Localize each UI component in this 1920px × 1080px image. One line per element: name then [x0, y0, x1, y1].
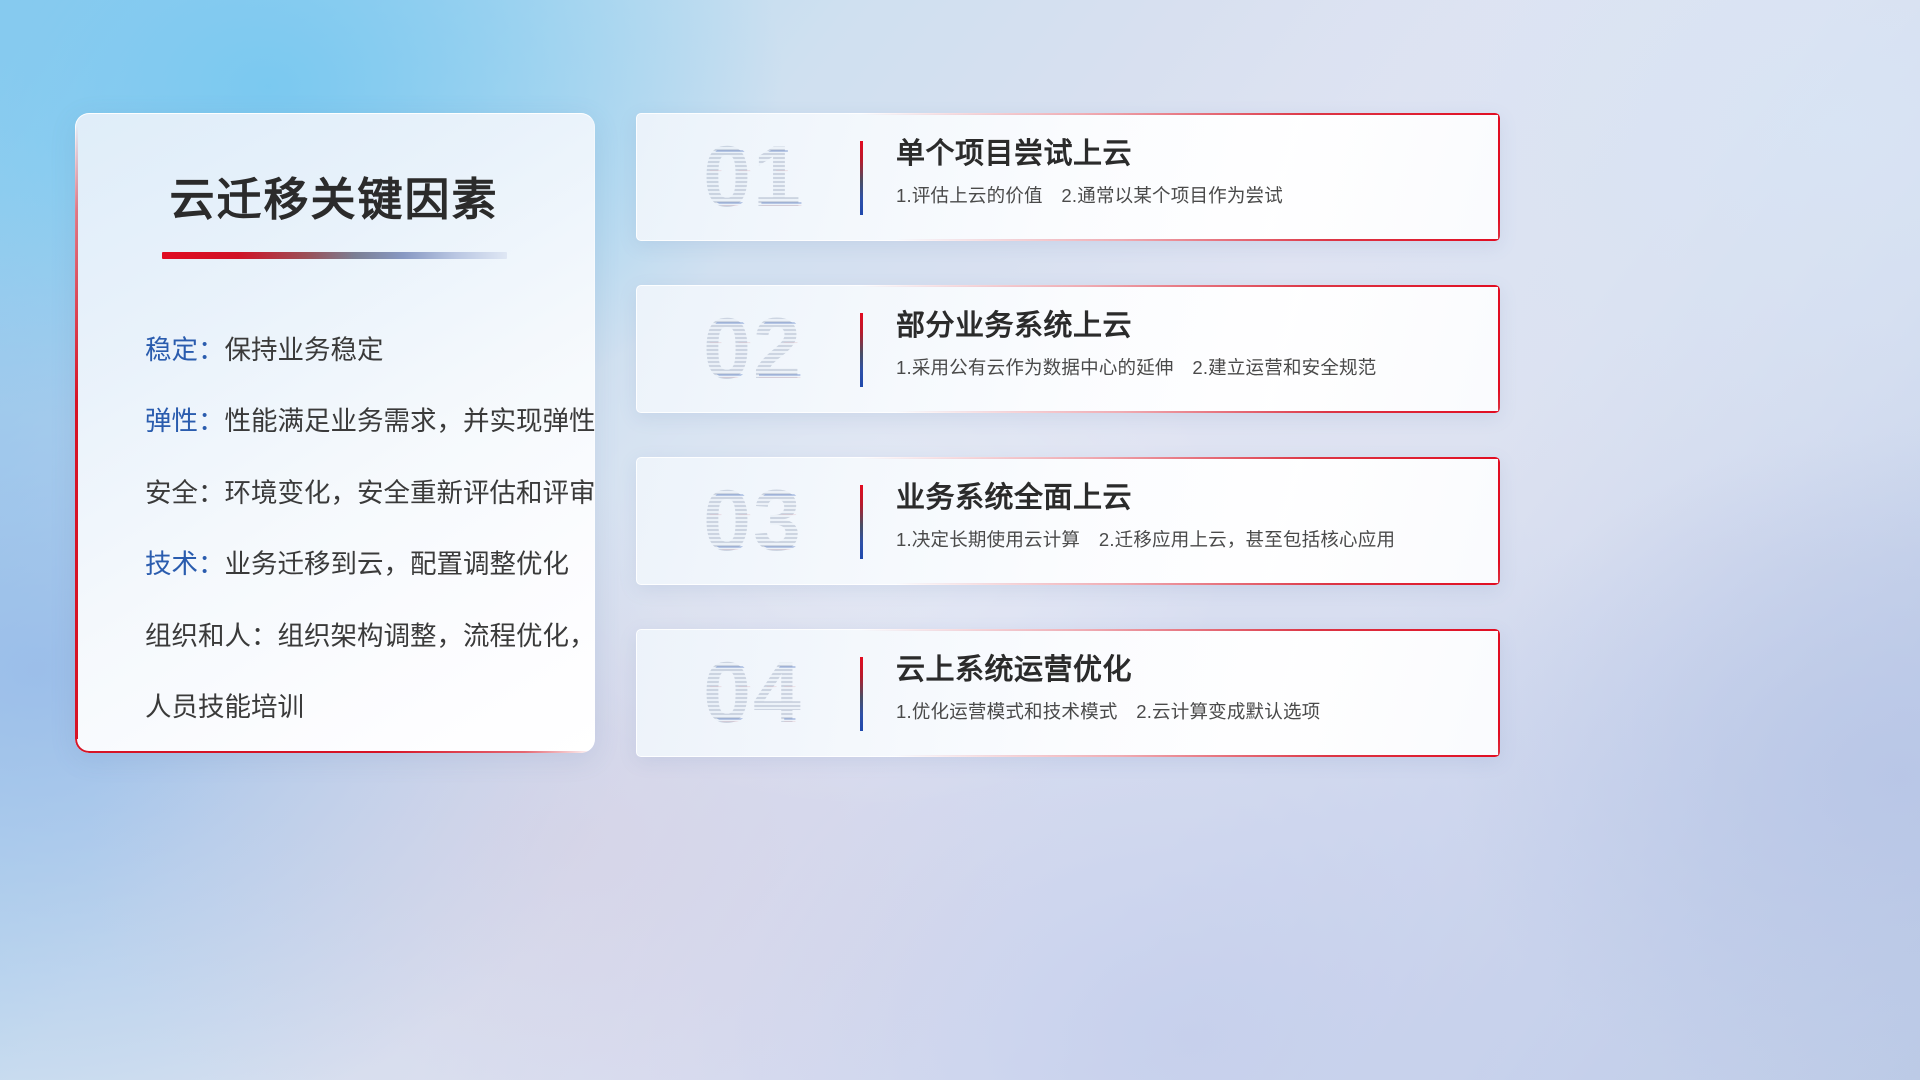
factor-key: 技术：	[145, 549, 225, 579]
step-number-accent: 02	[661, 297, 851, 401]
list-item: 安全：环境变化，安全重新评估和评审	[145, 480, 555, 507]
step-card-02[interactable]: 02 02 部分业务系统上云 1.采用公有云作为数据中心的延伸 2.建立运营和安…	[636, 285, 1500, 413]
factor-value: 业务迁移到云，配置调整优化	[225, 549, 570, 579]
step-subtitle: 1.评估上云的价值 2.通常以某个项目作为尝试	[896, 184, 1474, 208]
step-number-graphic: 03 03	[636, 457, 866, 585]
step-title: 单个项目尝试上云	[896, 137, 1474, 172]
step-number-accent: 04	[661, 641, 851, 745]
step-divider-bar	[860, 141, 863, 215]
factor-key: 稳定：	[145, 335, 225, 365]
step-title: 业务系统全面上云	[896, 481, 1474, 516]
step-number-graphic: 04 04	[636, 629, 866, 757]
card-accent-edge-right	[1498, 629, 1501, 757]
step-subtitle: 1.优化运营模式和技术模式 2.云计算变成默认选项	[896, 700, 1474, 724]
factor-value: 保持业务稳定	[225, 335, 384, 365]
card-accent-edge-bottom	[89, 751, 595, 754]
factor-key: 组织和人：	[145, 621, 278, 651]
step-number-graphic: 02 02	[636, 285, 866, 413]
list-item: 弹性：性能满足业务需求，并实现弹性	[145, 408, 555, 435]
list-item: 组织和人：组织架构调整，流程优化，	[145, 623, 555, 650]
step-title: 云上系统运营优化	[896, 653, 1474, 688]
factor-value: 环境变化，安全重新评估和评审	[225, 478, 596, 508]
step-number-accent: 03	[661, 469, 851, 573]
list-item: 技术：业务迁移到云，配置调整优化	[145, 551, 555, 578]
card-accent-edge-right	[1498, 113, 1501, 241]
title-underline-gradient	[162, 252, 507, 259]
key-factors-list: 稳定：保持业务稳定 弹性：性能满足业务需求，并实现弹性 安全：环境变化，安全重新…	[113, 337, 555, 721]
step-subtitle: 1.决定长期使用云计算 2.迁移应用上云，甚至包括核心应用	[896, 528, 1474, 552]
step-number-accent: 01	[661, 125, 851, 229]
factor-key: 弹性：	[145, 406, 225, 436]
key-factors-card: 云迁移关键因素 稳定：保持业务稳定 弹性：性能满足业务需求，并实现弹性 安全：环…	[75, 113, 595, 753]
factor-value: 人员技能培训	[145, 692, 304, 722]
factor-value: 组织架构调整，流程优化，	[278, 621, 596, 651]
list-item: 稳定：保持业务稳定	[145, 337, 555, 364]
card-accent-corner	[75, 725, 103, 753]
list-item: 人员技能培训	[145, 694, 555, 721]
step-title: 部分业务系统上云	[896, 309, 1474, 344]
step-number-graphic: 01 01	[636, 113, 866, 241]
card-accent-edge-right	[1498, 285, 1501, 413]
step-card-03[interactable]: 03 03 业务系统全面上云 1.决定长期使用云计算 2.迁移应用上云，甚至包括…	[636, 457, 1500, 585]
card-accent-edge-right	[1498, 457, 1501, 585]
factor-value: 性能满足业务需求，并实现弹性	[225, 406, 596, 436]
step-subtitle: 1.采用公有云作为数据中心的延伸 2.建立运营和安全规范	[896, 356, 1474, 380]
page-title: 云迁移关键因素	[113, 175, 555, 225]
step-divider-bar	[860, 485, 863, 559]
step-card-04[interactable]: 04 04 云上系统运营优化 1.优化运营模式和技术模式 2.云计算变成默认选项	[636, 629, 1500, 757]
step-divider-bar	[860, 313, 863, 387]
factor-key: 安全：	[145, 478, 225, 508]
step-card-01[interactable]: 01 01 单个项目尝试上云 1.评估上云的价值 2.通常以某个项目作为尝试	[636, 113, 1500, 241]
step-divider-bar	[860, 657, 863, 731]
